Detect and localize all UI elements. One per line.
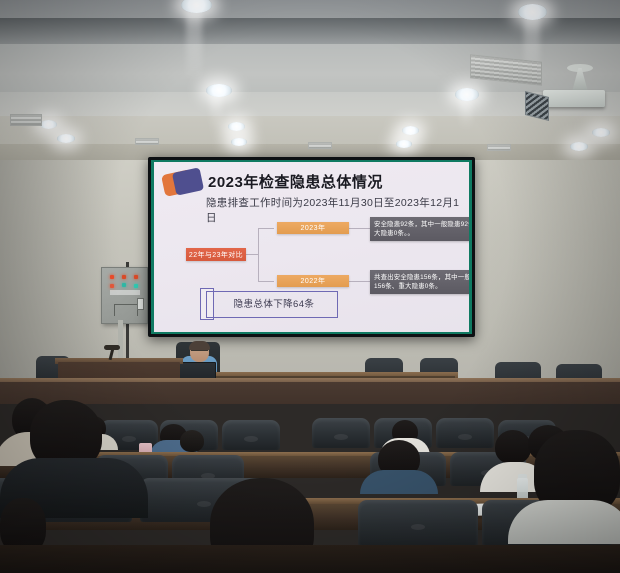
ceiling-light [40,120,57,129]
ceiling-light [57,134,75,143]
slide-conclusion-text: 隐患总体下降64条 [214,296,334,310]
panel-led-teal [122,283,126,287]
microphone-head [104,345,120,350]
panel-led-red [134,275,138,279]
connector-line [258,281,274,282]
ceiling-vent [135,138,159,145]
ceiling-light [455,88,479,101]
auditorium-seat [312,418,370,448]
presenter-glasses [191,350,208,354]
panel-led-red [110,284,114,288]
slide-logo-diamond-icon [172,167,204,195]
slide-title: 2023年检查隐患总体情况 [208,171,383,192]
connector-line [349,228,371,229]
auditorium-seat [436,418,494,448]
auditorium-seat [358,500,478,546]
presenter-hair [189,341,210,350]
projected-slide: 2023年检查隐患总体情况 隐患排查工作时间为2023年11月30日至2023年… [154,162,469,332]
ceiling-light [396,140,412,148]
connector-line [246,254,259,255]
panel-led-red [110,275,114,279]
panel-label-plate [110,290,140,295]
ceiling-light [518,4,547,20]
slide-detail-2023: 安全隐患92条，其中一般隐患92条、重大隐患0条。。 [370,217,469,241]
floor-shadow [0,545,620,573]
ceiling-light [231,138,247,146]
ceiling-light [228,122,245,131]
ceiling-projector [543,90,605,107]
audience-head [495,430,531,464]
ceiling-light [592,128,610,137]
auditorium-seat [222,420,280,450]
ceiling-light [570,142,588,151]
light-beam [186,10,202,82]
audience-head [180,430,204,452]
slide-year-2022-box: 2022年 [277,275,349,287]
conference-room-photo: 2023年检查隐患总体情况 隐患排查工作时间为2023年11月30日至2023年… [0,0,620,573]
connector-line [258,228,259,282]
slide-detail-2022: 共查出安全隐患156条，其中一般隐患156条、重大隐患0条。 [370,270,469,294]
ceiling-vent [308,142,332,149]
panel-gauge [114,304,138,316]
panel-led-teal [134,284,138,288]
panel-led-red [122,275,126,279]
ceiling-vent [10,114,42,126]
audience-shoulders [360,470,438,494]
connector-line [258,228,274,229]
slide-compare-label: 22年与23年对比 [186,248,246,261]
ceiling-light [402,126,419,135]
wall-control-panel[interactable] [101,267,148,324]
connector-line [349,281,371,282]
ceiling-light [206,84,232,97]
ceiling-vent [487,144,511,151]
panel-switch[interactable] [137,298,144,310]
slide-year-2023-box: 2023年 [277,222,349,234]
audience-shoulders [508,500,620,544]
